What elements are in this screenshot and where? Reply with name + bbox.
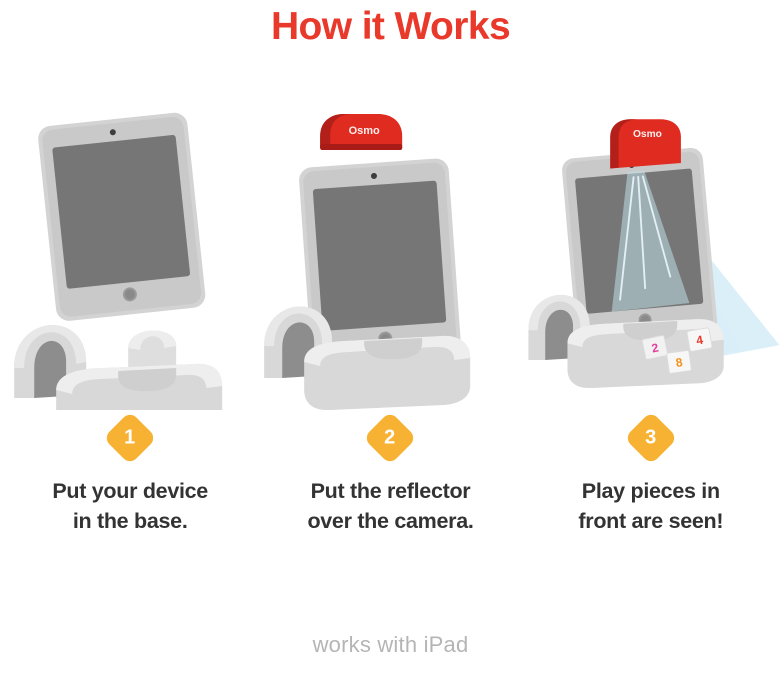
reflector-logo-text-3: Osmo [633,129,662,140]
footer-note: works with iPad [0,632,781,658]
step-badge-2: 2 [260,410,520,466]
step-column-2: Osmo [260,100,520,580]
reflector-logo-text-2: Osmo [349,125,380,137]
illustration-tablet-with-light-cone: Osmo 2 [521,100,781,410]
step-caption-3: Play pieces in front are seen! [521,476,781,536]
play-piece-2: 2 [642,335,668,360]
caption-line-2a: Put the reflector [311,479,471,503]
step-column-3: Osmo 2 [521,100,781,580]
caption-line-3a: Play pieces in [582,479,720,503]
play-piece-8: 8 [666,350,691,373]
play-piece-4: 4 [686,328,712,352]
step-badge-1: 1 [0,410,260,466]
caption-line-2b: over the camera. [260,506,520,536]
page-title: How it Works [0,0,781,54]
caption-line-1a: Put your device [52,479,208,503]
step-column-1: 1 Put your device in the base. [0,100,260,580]
badge-number-2: 2 [385,428,396,448]
how-it-works-infographic: How it Works [0,0,781,680]
steps-row: 1 Put your device in the base. Osmo [0,100,781,580]
badge-diamond-1: 1 [103,411,157,465]
reflector-floating: Osmo [320,114,402,150]
badge-number-1: 1 [125,428,136,448]
step-caption-2: Put the reflector over the camera. [260,476,520,536]
caption-line-3b: front are seen! [521,506,781,536]
step-badge-3: 3 [521,410,781,466]
caption-line-1b: in the base. [0,506,260,536]
badge-diamond-2: 2 [364,411,418,465]
reflector-attached: Osmo [610,119,681,168]
badge-number-3: 3 [645,428,656,448]
badge-diamond-3: 3 [624,411,678,465]
step-caption-1: Put your device in the base. [0,476,260,536]
illustration-tablet-above-base [0,100,260,410]
illustration-reflector-above-tablet: Osmo [260,100,520,410]
